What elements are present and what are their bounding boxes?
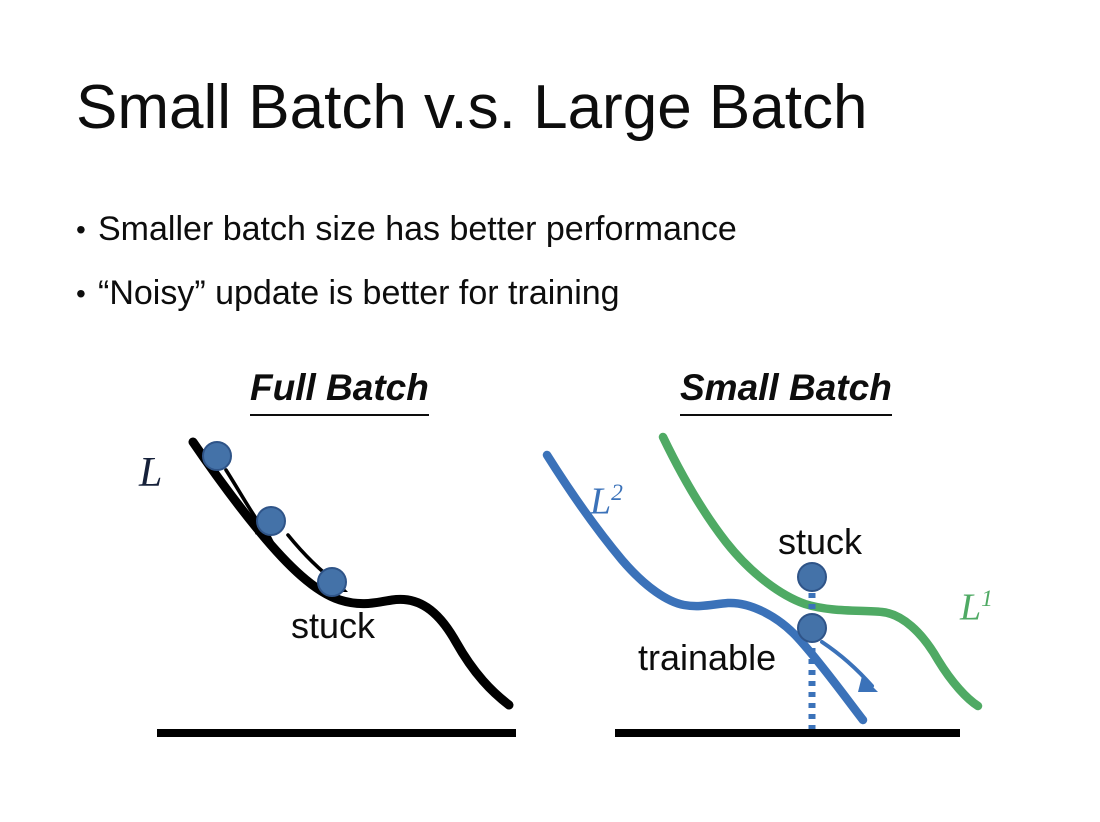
baseline-right <box>615 729 960 737</box>
gradient-marker-trainable <box>798 614 826 642</box>
annotation-trainable: trainable <box>638 640 776 676</box>
bullet-dot-icon: • <box>76 276 98 311</box>
gradient-marker <box>203 442 231 470</box>
full-batch-loss-curve-svg <box>130 420 550 760</box>
curve-label-L2: L2 <box>590 482 623 521</box>
bullet-list: • Smaller batch size has better performa… <box>76 212 976 340</box>
bullet-dot-icon: • <box>76 212 98 247</box>
panel-heading-full-batch: Full Batch <box>250 367 429 416</box>
axis-label-loss: L <box>139 452 162 494</box>
annotation-stuck-left: stuck <box>291 608 375 644</box>
baseline-left <box>157 729 516 737</box>
arrow-head-icon <box>822 642 878 692</box>
small-batch-loss-curves-svg <box>530 420 1030 760</box>
curve-label-L1-exponent: 1 <box>981 586 993 612</box>
curve-label-L1: L1 <box>960 588 993 627</box>
list-item: • “Noisy” update is better for training <box>76 276 976 311</box>
bullet-text: Smaller batch size has better performanc… <box>98 212 737 246</box>
diagram-small-batch <box>530 420 1030 760</box>
curve-label-L2-exponent: 2 <box>611 480 623 506</box>
list-item: • Smaller batch size has better performa… <box>76 212 976 247</box>
gradient-marker <box>257 507 285 535</box>
curve-label-L1-base: L <box>960 587 981 629</box>
curve-label-L2-base: L <box>590 481 611 523</box>
loss-curve-black <box>193 442 509 705</box>
annotation-stuck-right: stuck <box>778 524 862 560</box>
slide-canvas: Small Batch v.s. Large Batch • Smaller b… <box>0 0 1100 822</box>
bullet-text: “Noisy” update is better for training <box>98 276 620 310</box>
page-title: Small Batch v.s. Large Batch <box>76 74 867 142</box>
gradient-marker <box>318 568 346 596</box>
gradient-marker-stuck <box>798 563 826 591</box>
panel-heading-small-batch: Small Batch <box>680 367 892 416</box>
diagram-full-batch <box>130 420 550 760</box>
